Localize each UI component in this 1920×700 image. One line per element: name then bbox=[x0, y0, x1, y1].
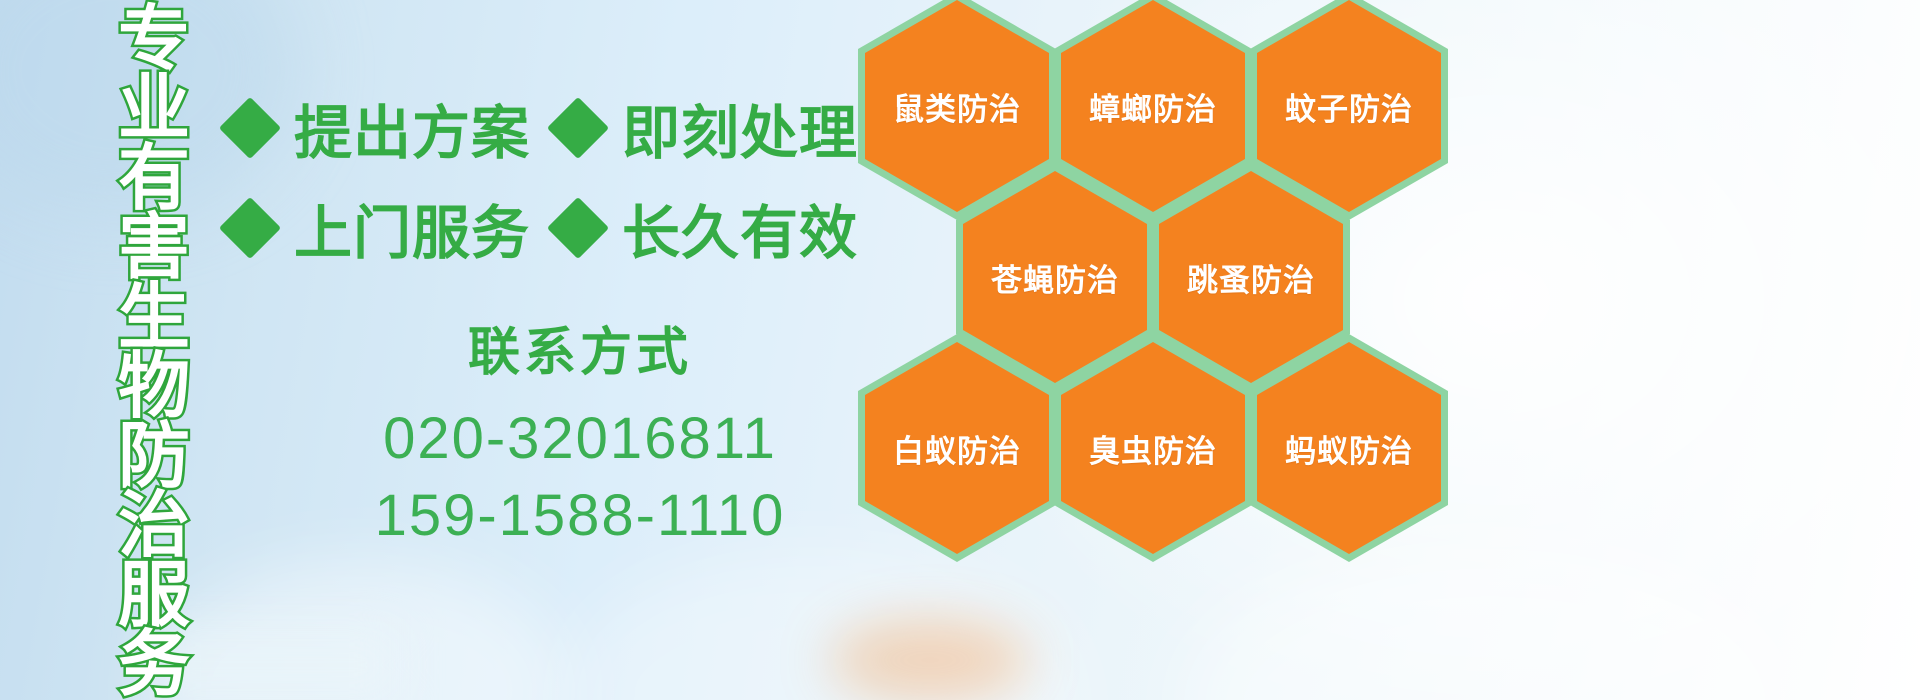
service-label-5: 白蚁防治 bbox=[893, 426, 1021, 471]
service-label-6: 臭虫防治 bbox=[1089, 426, 1217, 471]
service-label-7: 蚂蚁防治 bbox=[1285, 426, 1413, 471]
vertical-headline: 专 业 有 害 生 物 防 治 服 务 bbox=[106, 6, 202, 566]
feature-row-2: 上门服务 长久有效 bbox=[228, 178, 868, 278]
contact-phone-mobile[interactable]: 159-1588-1110 bbox=[300, 478, 860, 555]
service-label-2: 蚊子防治 bbox=[1285, 84, 1413, 129]
feature-item-2: 上门服务 bbox=[228, 186, 530, 270]
feature-label-2: 上门服务 bbox=[294, 186, 530, 270]
feature-row-1: 提出方案 即刻处理 bbox=[228, 78, 868, 178]
vertical-char-1: 业 bbox=[118, 75, 190, 144]
contact-title: 联系方式 bbox=[300, 310, 860, 385]
diamond-icon bbox=[547, 97, 609, 159]
contact-block: 联系方式 020-32016811 159-1588-1110 bbox=[300, 310, 860, 554]
vertical-char-0: 专 bbox=[118, 6, 190, 75]
vertical-char-9: 务 bbox=[118, 631, 190, 700]
feature-label-0: 提出方案 bbox=[294, 86, 530, 170]
feature-item-0: 提出方案 bbox=[228, 86, 530, 170]
feature-item-3: 长久有效 bbox=[556, 186, 858, 270]
contact-phone-landline[interactable]: 020-32016811 bbox=[300, 401, 860, 478]
vertical-char-4: 生 bbox=[118, 284, 190, 353]
service-label-1: 蟑螂防治 bbox=[1089, 84, 1217, 129]
feature-item-1: 即刻处理 bbox=[556, 86, 858, 170]
vertical-char-3: 害 bbox=[118, 214, 190, 283]
vertical-char-2: 有 bbox=[118, 145, 190, 214]
feature-label-3: 长久有效 bbox=[622, 186, 858, 270]
diamond-icon bbox=[547, 197, 609, 259]
vertical-char-6: 防 bbox=[118, 423, 190, 492]
vertical-char-8: 服 bbox=[118, 562, 190, 631]
vertical-char-7: 治 bbox=[118, 492, 190, 561]
service-label-3: 苍蝇防治 bbox=[991, 255, 1119, 300]
service-label-0: 鼠类防治 bbox=[893, 84, 1021, 129]
service-honeycomb: 鼠类防治 蟑螂防治 蚊子防治 苍蝇防治 跳蚤防治 白蚁防治 臭虫防治 蚂蚁防治 bbox=[858, 0, 1478, 700]
diamond-icon bbox=[219, 97, 281, 159]
vertical-char-5: 物 bbox=[118, 353, 190, 422]
service-label-4: 跳蚤防治 bbox=[1187, 255, 1315, 300]
pest-control-banner: 专 业 有 害 生 物 防 治 服 务 提出方案 即刻处理 上门服务 bbox=[0, 0, 1920, 700]
feature-list: 提出方案 即刻处理 上门服务 长久有效 bbox=[228, 78, 868, 278]
diamond-icon bbox=[219, 197, 281, 259]
feature-label-1: 即刻处理 bbox=[622, 86, 858, 170]
